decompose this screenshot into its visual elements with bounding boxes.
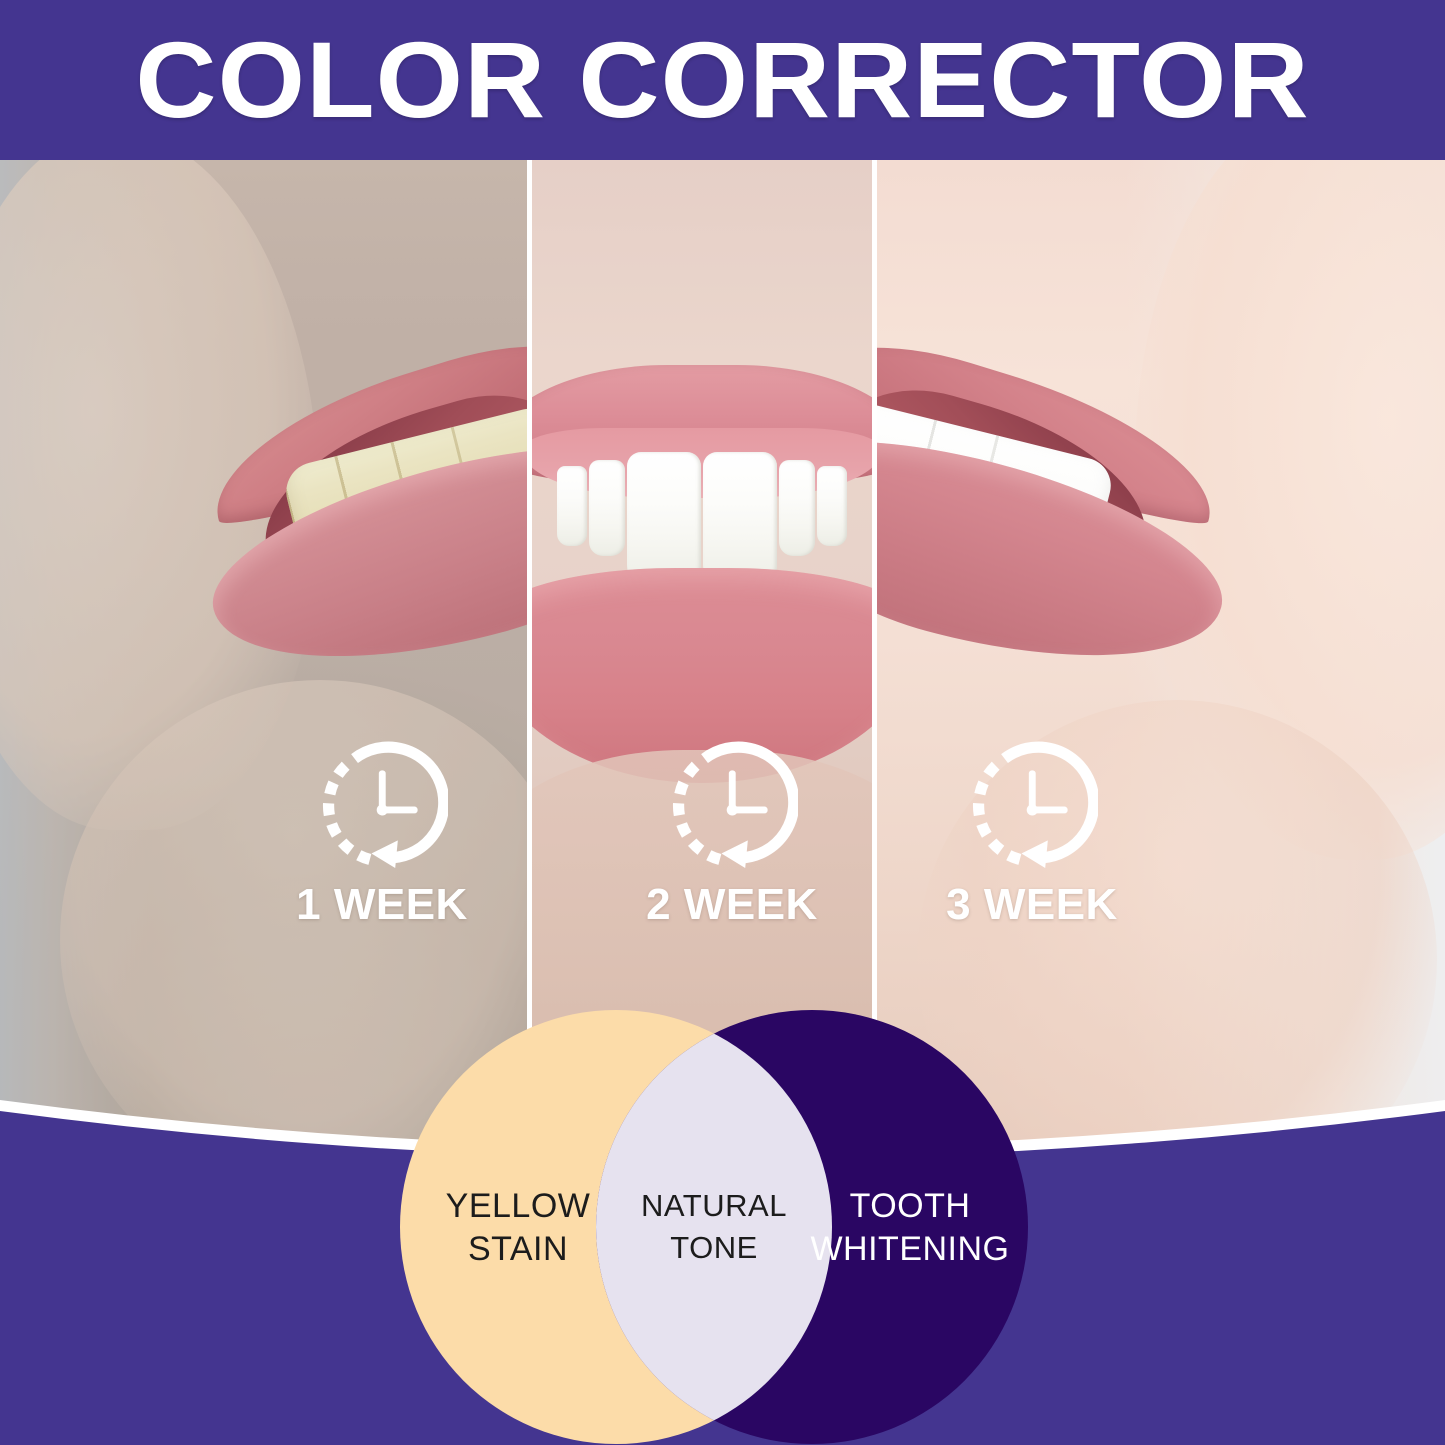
venn-label-right-line2: WHITENING <box>810 1230 1009 1268</box>
week-label: 2 WEEK <box>646 880 818 930</box>
week-marker-2: 2 WEEK <box>612 740 852 930</box>
tooth <box>817 466 847 546</box>
venn-svg: YELLOW STAIN NATURAL TONE TOOTH WHITENIN… <box>378 1010 1050 1445</box>
tooth-central-incisor <box>627 452 701 584</box>
venn-label-overlap-line1: NATURAL <box>641 1188 787 1223</box>
tooth-central-incisor <box>703 452 777 584</box>
tooth <box>557 466 587 546</box>
tooth <box>589 460 625 556</box>
tooth <box>779 460 815 556</box>
clock-arrow-icon <box>966 740 1098 872</box>
venn-diagram: YELLOW STAIN NATURAL TONE TOOTH WHITENIN… <box>378 1010 1050 1445</box>
venn-label-left-line1: YELLOW <box>446 1187 591 1225</box>
page-title: COLOR CORRECTOR <box>135 26 1309 134</box>
clock-arrow-icon <box>316 740 448 872</box>
color-corrector-poster: COLOR CORRECTOR <box>0 0 1445 1445</box>
venn-label-overlap-line2: TONE <box>670 1230 758 1265</box>
week-label: 1 WEEK <box>296 880 468 930</box>
week-marker-1: 1 WEEK <box>262 740 502 930</box>
week-marker-3: 3 WEEK <box>912 740 1152 930</box>
header-banner: COLOR CORRECTOR <box>0 0 1445 160</box>
venn-label-right-line1: TOOTH <box>850 1187 971 1225</box>
venn-label-left-line2: STAIN <box>468 1230 568 1268</box>
clock-arrow-icon <box>666 740 798 872</box>
week-label: 3 WEEK <box>946 880 1118 930</box>
